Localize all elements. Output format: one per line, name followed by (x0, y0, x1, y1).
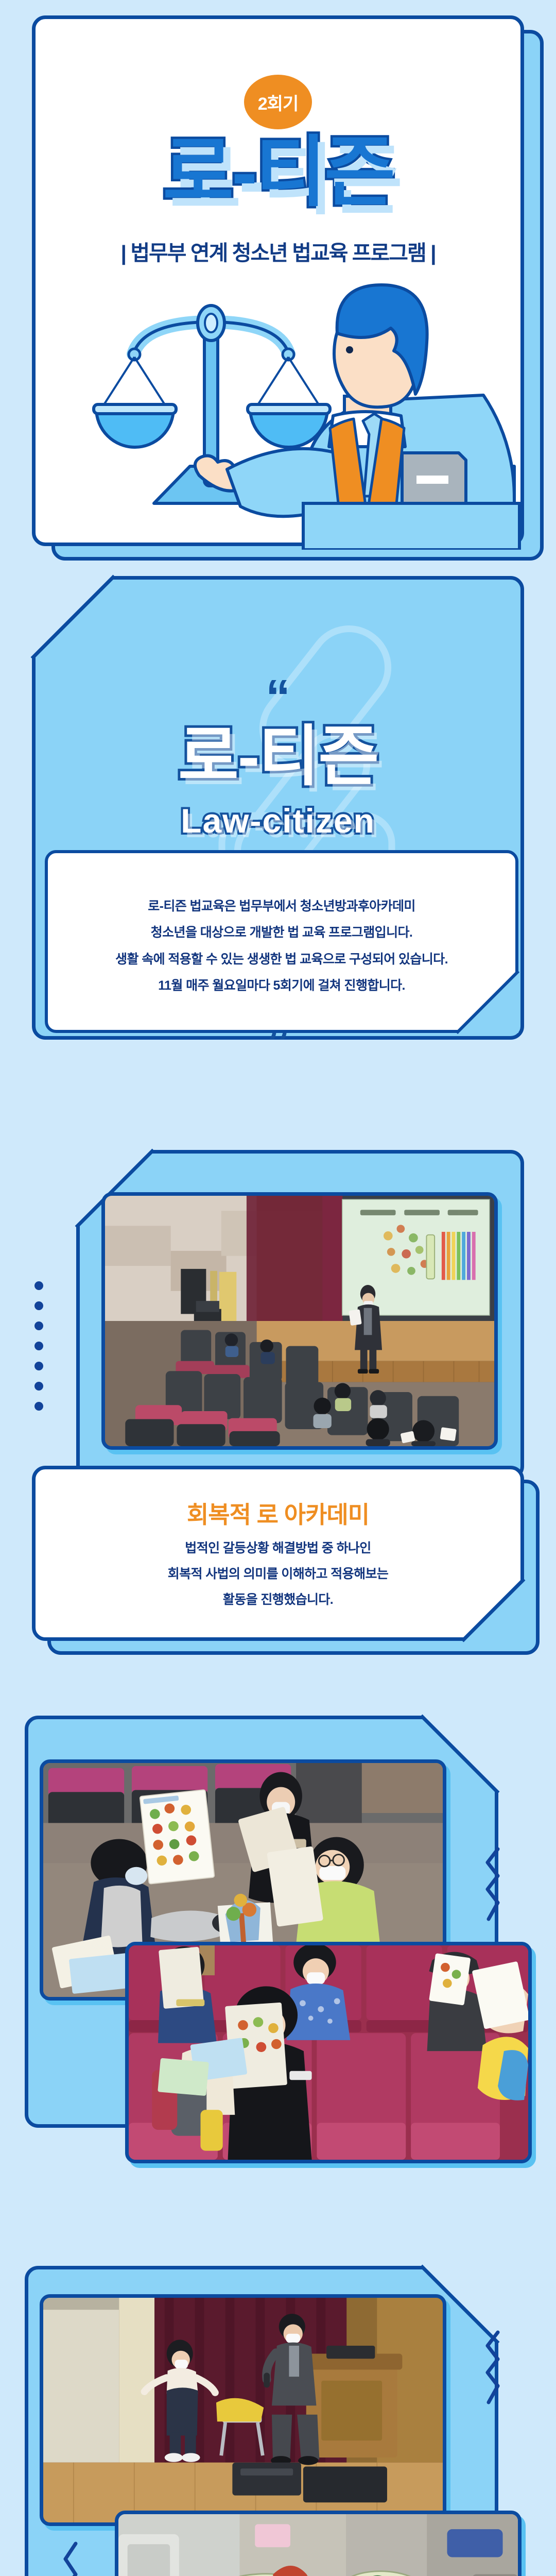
page-title: 로-티즌 (36, 133, 520, 211)
description-line: 법적인 갈등상황 해결방법 중 하나인 (36, 1535, 520, 1561)
dot-decoration (34, 1281, 43, 1411)
quote-open: “ (36, 683, 520, 713)
hero-card: 2회기 로-티즌 | 법무부 연계 청소년 법교육 프로그램 | (32, 15, 524, 546)
logo-card: “ 로-티즌 Law-citizen ” 로-티즌 법교육은 법무부에서 청소년… (32, 576, 524, 1040)
description-line: 로-티즌 법교육은 법무부에서 청소년방과후아카데미 (48, 893, 515, 920)
section-heading: 회복적 로 아카데미 (36, 1496, 520, 1530)
session-badge: 2회기 (244, 75, 312, 129)
program-description-box: 로-티즌 법교육은 법무부에서 청소년방과후아카데미 청소년을 대상으로 개발한… (45, 850, 518, 1033)
auditorium-photo-card (76, 1150, 524, 1480)
description-line: 생활 속에 적용할 수 있는 생생한 법 교육으로 구성되어 있습니다. (48, 946, 515, 973)
folded-corner (32, 576, 114, 658)
scales-of-justice-icon (36, 261, 528, 550)
zigzag-decoration (482, 2330, 507, 2408)
program-description: 로-티즌 법교육은 법무부에서 청소년방과후아카데미 청소년을 대상으로 개발한… (48, 893, 515, 999)
description-line: 청소년을 대상으로 개발한 법 교육 프로그램입니다. (48, 920, 515, 946)
description-line: 회복적 사법의 의미를 이해하고 적용해보는 (36, 1561, 520, 1587)
section-description: 법적인 갈등상황 해결방법 중 하나인 회복적 사법의 의미를 이해하고 적용해… (36, 1535, 520, 1613)
zigzag-decoration (482, 1847, 507, 1924)
zigzag-decoration (60, 2541, 85, 2576)
gallery-two-card (25, 2266, 498, 2576)
logo-title-ko: 로-티즌 (36, 724, 520, 790)
gallery-photo-students-seats (125, 1942, 532, 2163)
gallery-photo-stage-presentation (40, 2294, 446, 2526)
academy-text-card: 회복적 로 아카데미 법적인 갈등상황 해결방법 중 하나인 회복적 사법의 의… (32, 1466, 524, 1641)
logo-title-en: Law-citizen (36, 801, 520, 840)
description-line: 활동을 진행했습니다. (36, 1587, 520, 1613)
gallery-one-card (25, 1716, 498, 2128)
infographic-page: 2회기 로-티즌 | 법무부 연계 청소년 법교육 프로그램 | (0, 0, 556, 2576)
auditorium-photo (101, 1192, 498, 1450)
description-line: 11월 매주 월요일마다 5회기에 걸쳐 진행합니다. (48, 973, 515, 999)
gallery-photo-paper-tree (115, 2511, 522, 2576)
